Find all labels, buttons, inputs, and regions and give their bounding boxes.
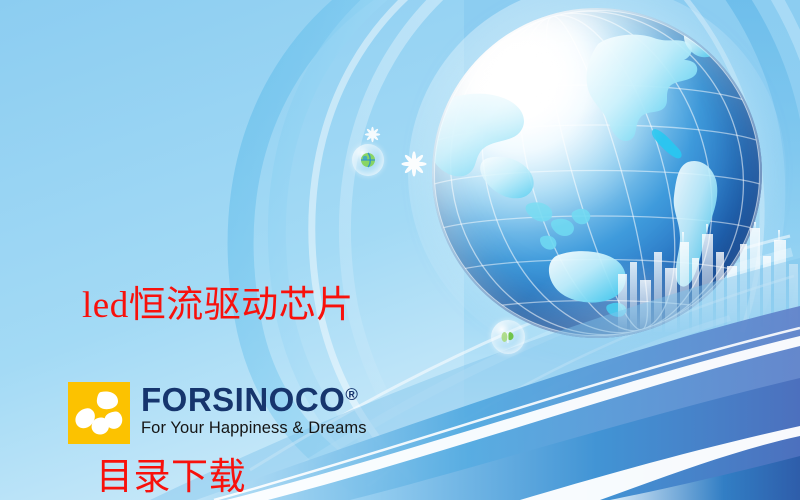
forsinoco-pinwheel-mark-icon bbox=[68, 382, 130, 444]
company-logo: FORSINOCO® For Your Happiness & Dreams bbox=[68, 382, 367, 444]
logo-tagline: For Your Happiness & Dreams bbox=[141, 420, 367, 437]
page-title: led恒流驱动芯片 目录下载 bbox=[82, 162, 354, 500]
logo-company-name-text: FORSINOCO bbox=[141, 381, 345, 418]
bubble-globe-icon bbox=[352, 144, 384, 176]
bubble-leaf-icon bbox=[491, 320, 525, 354]
logo-wordmark: FORSINOCO® For Your Happiness & Dreams bbox=[141, 382, 367, 437]
headline-line-1: led恒流驱动芯片 bbox=[82, 277, 354, 334]
pinwheel-petals-icon bbox=[68, 382, 130, 444]
leaf-windmill-icon bbox=[498, 327, 518, 347]
registered-trademark-symbol: ® bbox=[345, 385, 358, 404]
flower-sparkle-small-icon bbox=[364, 126, 381, 143]
mini-globe-icon bbox=[359, 151, 377, 169]
headline-line-2: 目录下载 bbox=[82, 449, 354, 500]
flower-sparkle-large-icon bbox=[400, 150, 428, 178]
logo-company-name: FORSINOCO® bbox=[141, 383, 367, 416]
poster-canvas: led恒流驱动芯片 目录下载 FORSINOCO® For Your Happi… bbox=[0, 0, 800, 500]
